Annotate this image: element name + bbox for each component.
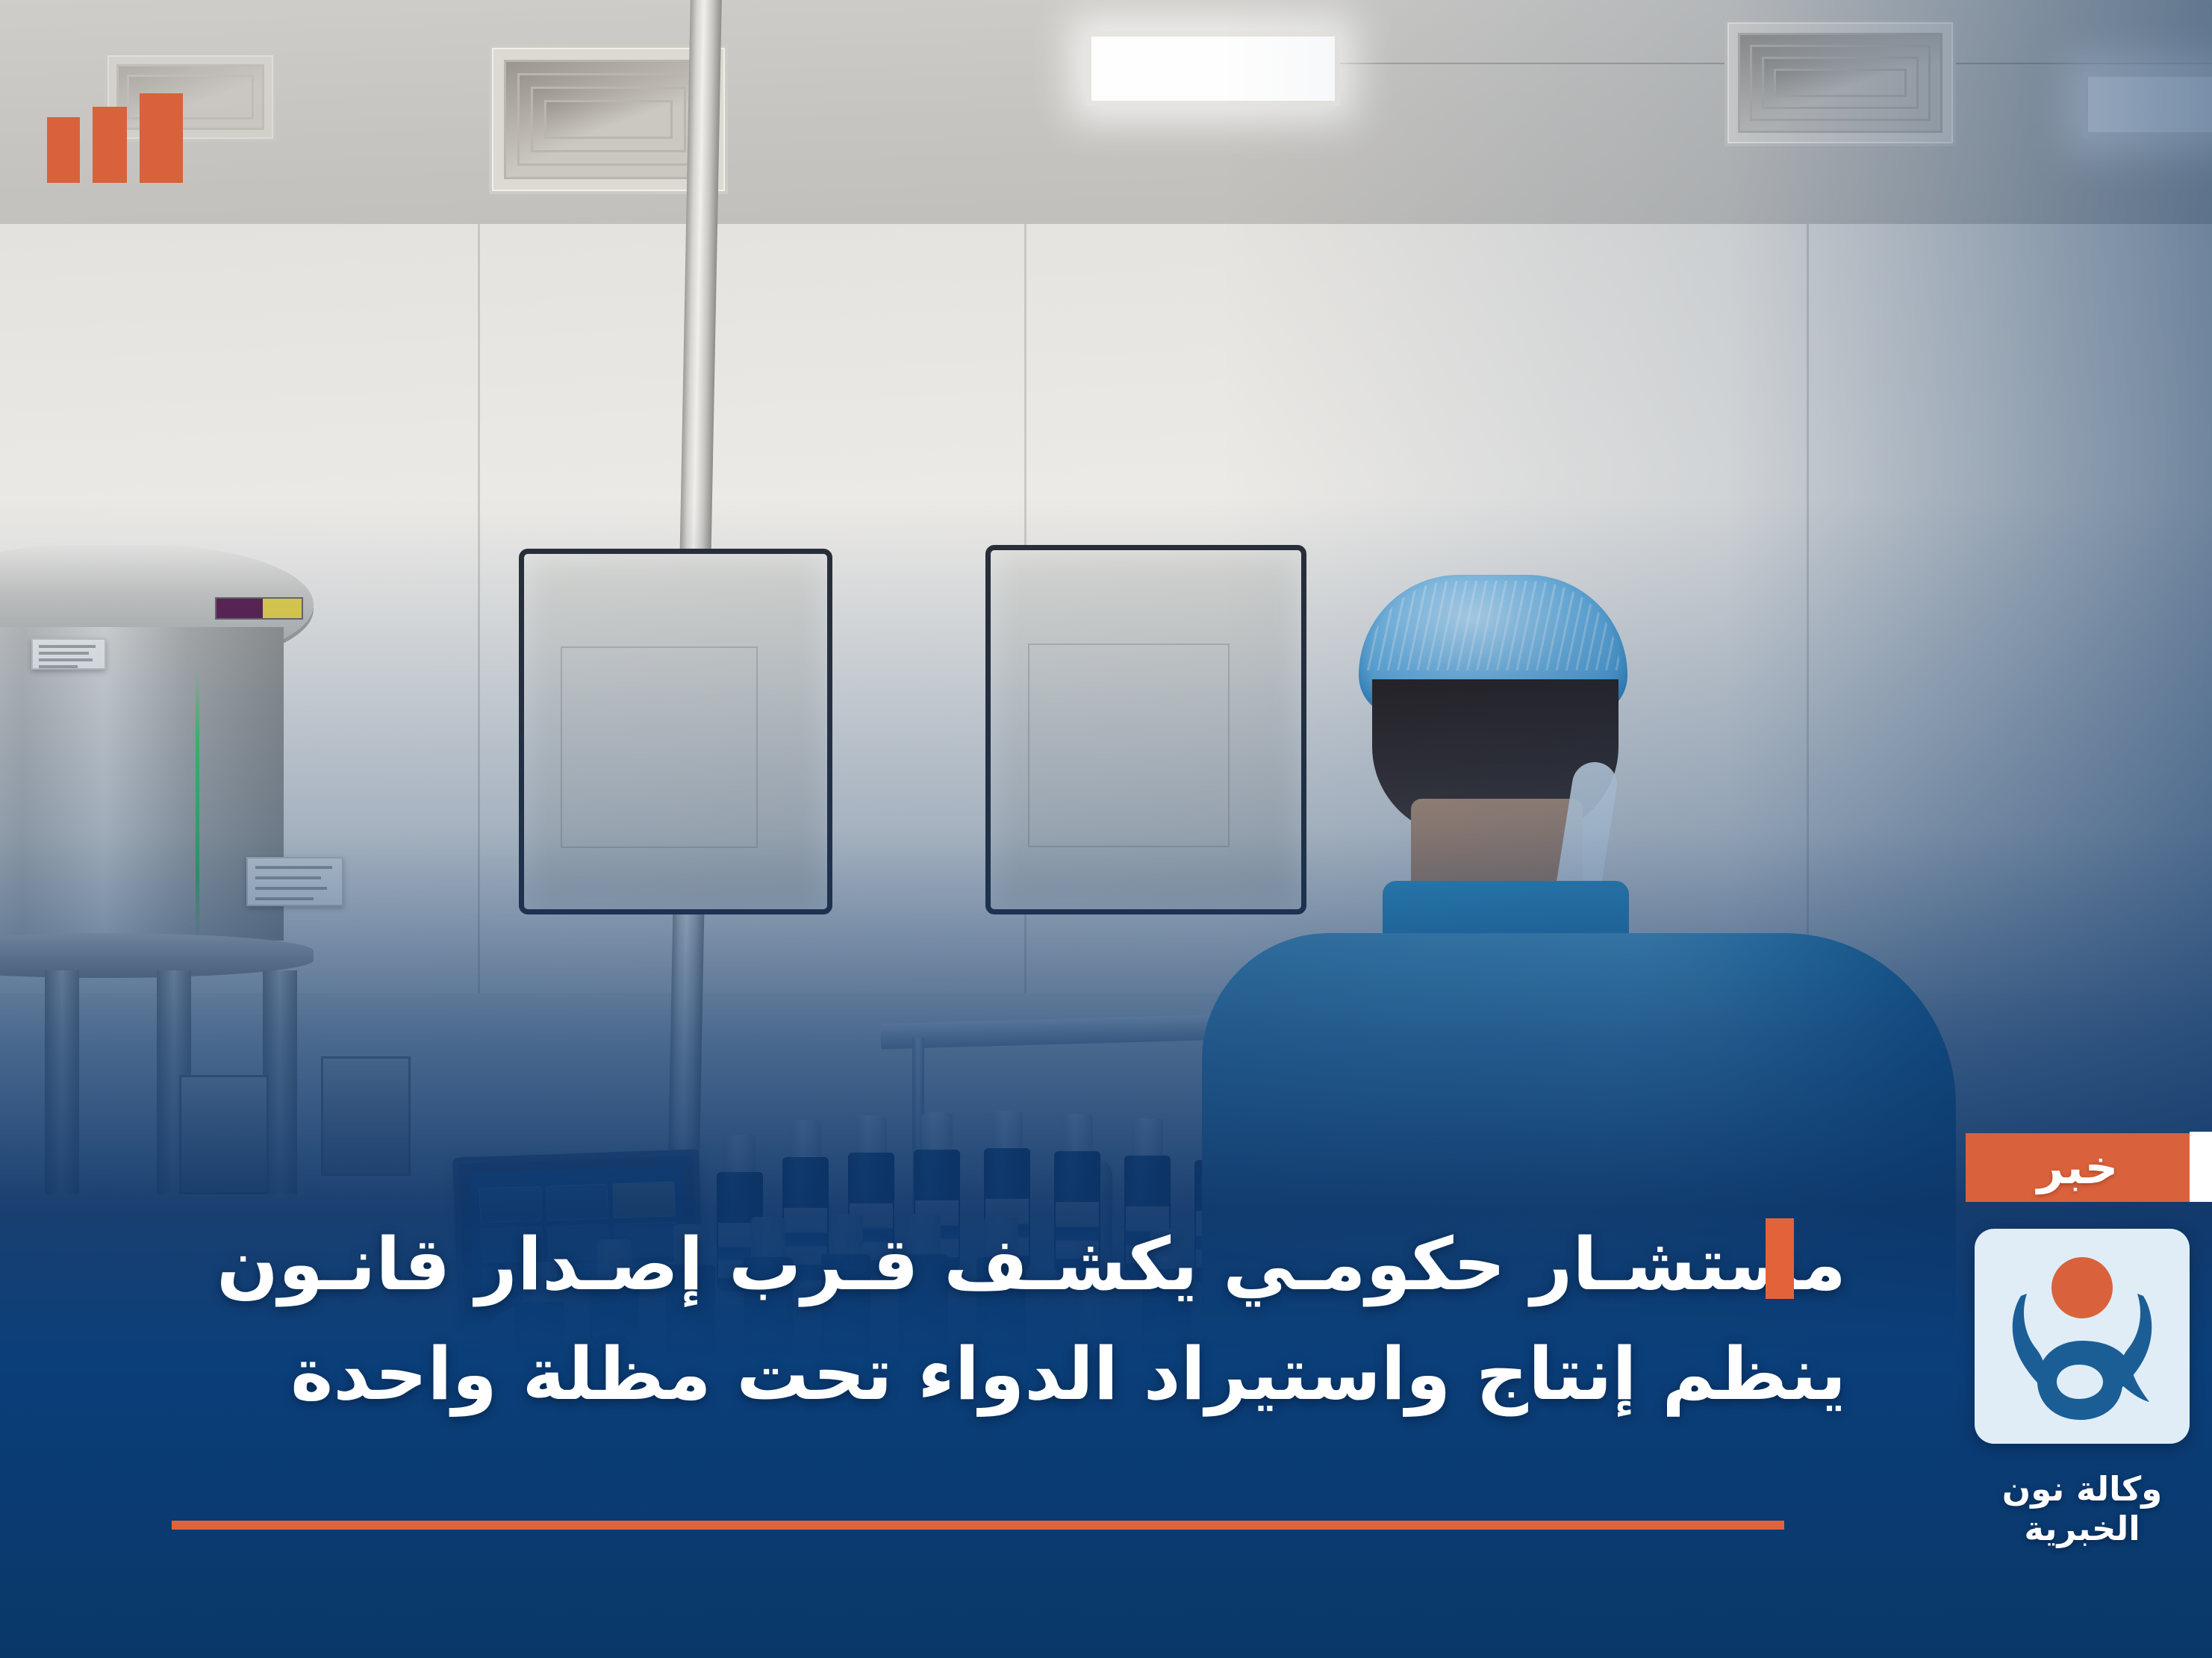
headline-line-2: ينظم إنتاج واستيراد الدواء تحت مظلة واحد…	[90, 1319, 1846, 1429]
logo-bar-3	[47, 117, 80, 183]
headline-accent-bar	[1766, 1218, 1794, 1299]
agency-name: وكالة نون الخبرية	[1975, 1469, 2190, 1548]
bottom-divider-rule	[172, 1521, 1784, 1530]
logo-bar-2	[93, 107, 127, 183]
news-card: BROTHERS	[0, 0, 2212, 1658]
headline: مستشـار حكومـي يكشـف قـرب إصـدار قانـون …	[90, 1209, 1846, 1430]
news-badge: خبر	[1966, 1133, 2190, 1202]
logo-bar-1	[140, 93, 183, 183]
headline-line-1: مستشـار حكومـي يكشـف قـرب إصـدار قانـون	[90, 1209, 1846, 1319]
news-badge-label: خبر	[2037, 1144, 2119, 1191]
brand-rail: خبر وكالة نون الخبرية	[1891, 1133, 2190, 1548]
three-bars-logo	[47, 93, 183, 183]
agency-logo	[1975, 1229, 2190, 1444]
noon-agency-logo-icon	[1975, 1229, 2190, 1444]
news-badge-white-bar	[2190, 1132, 2212, 1202]
